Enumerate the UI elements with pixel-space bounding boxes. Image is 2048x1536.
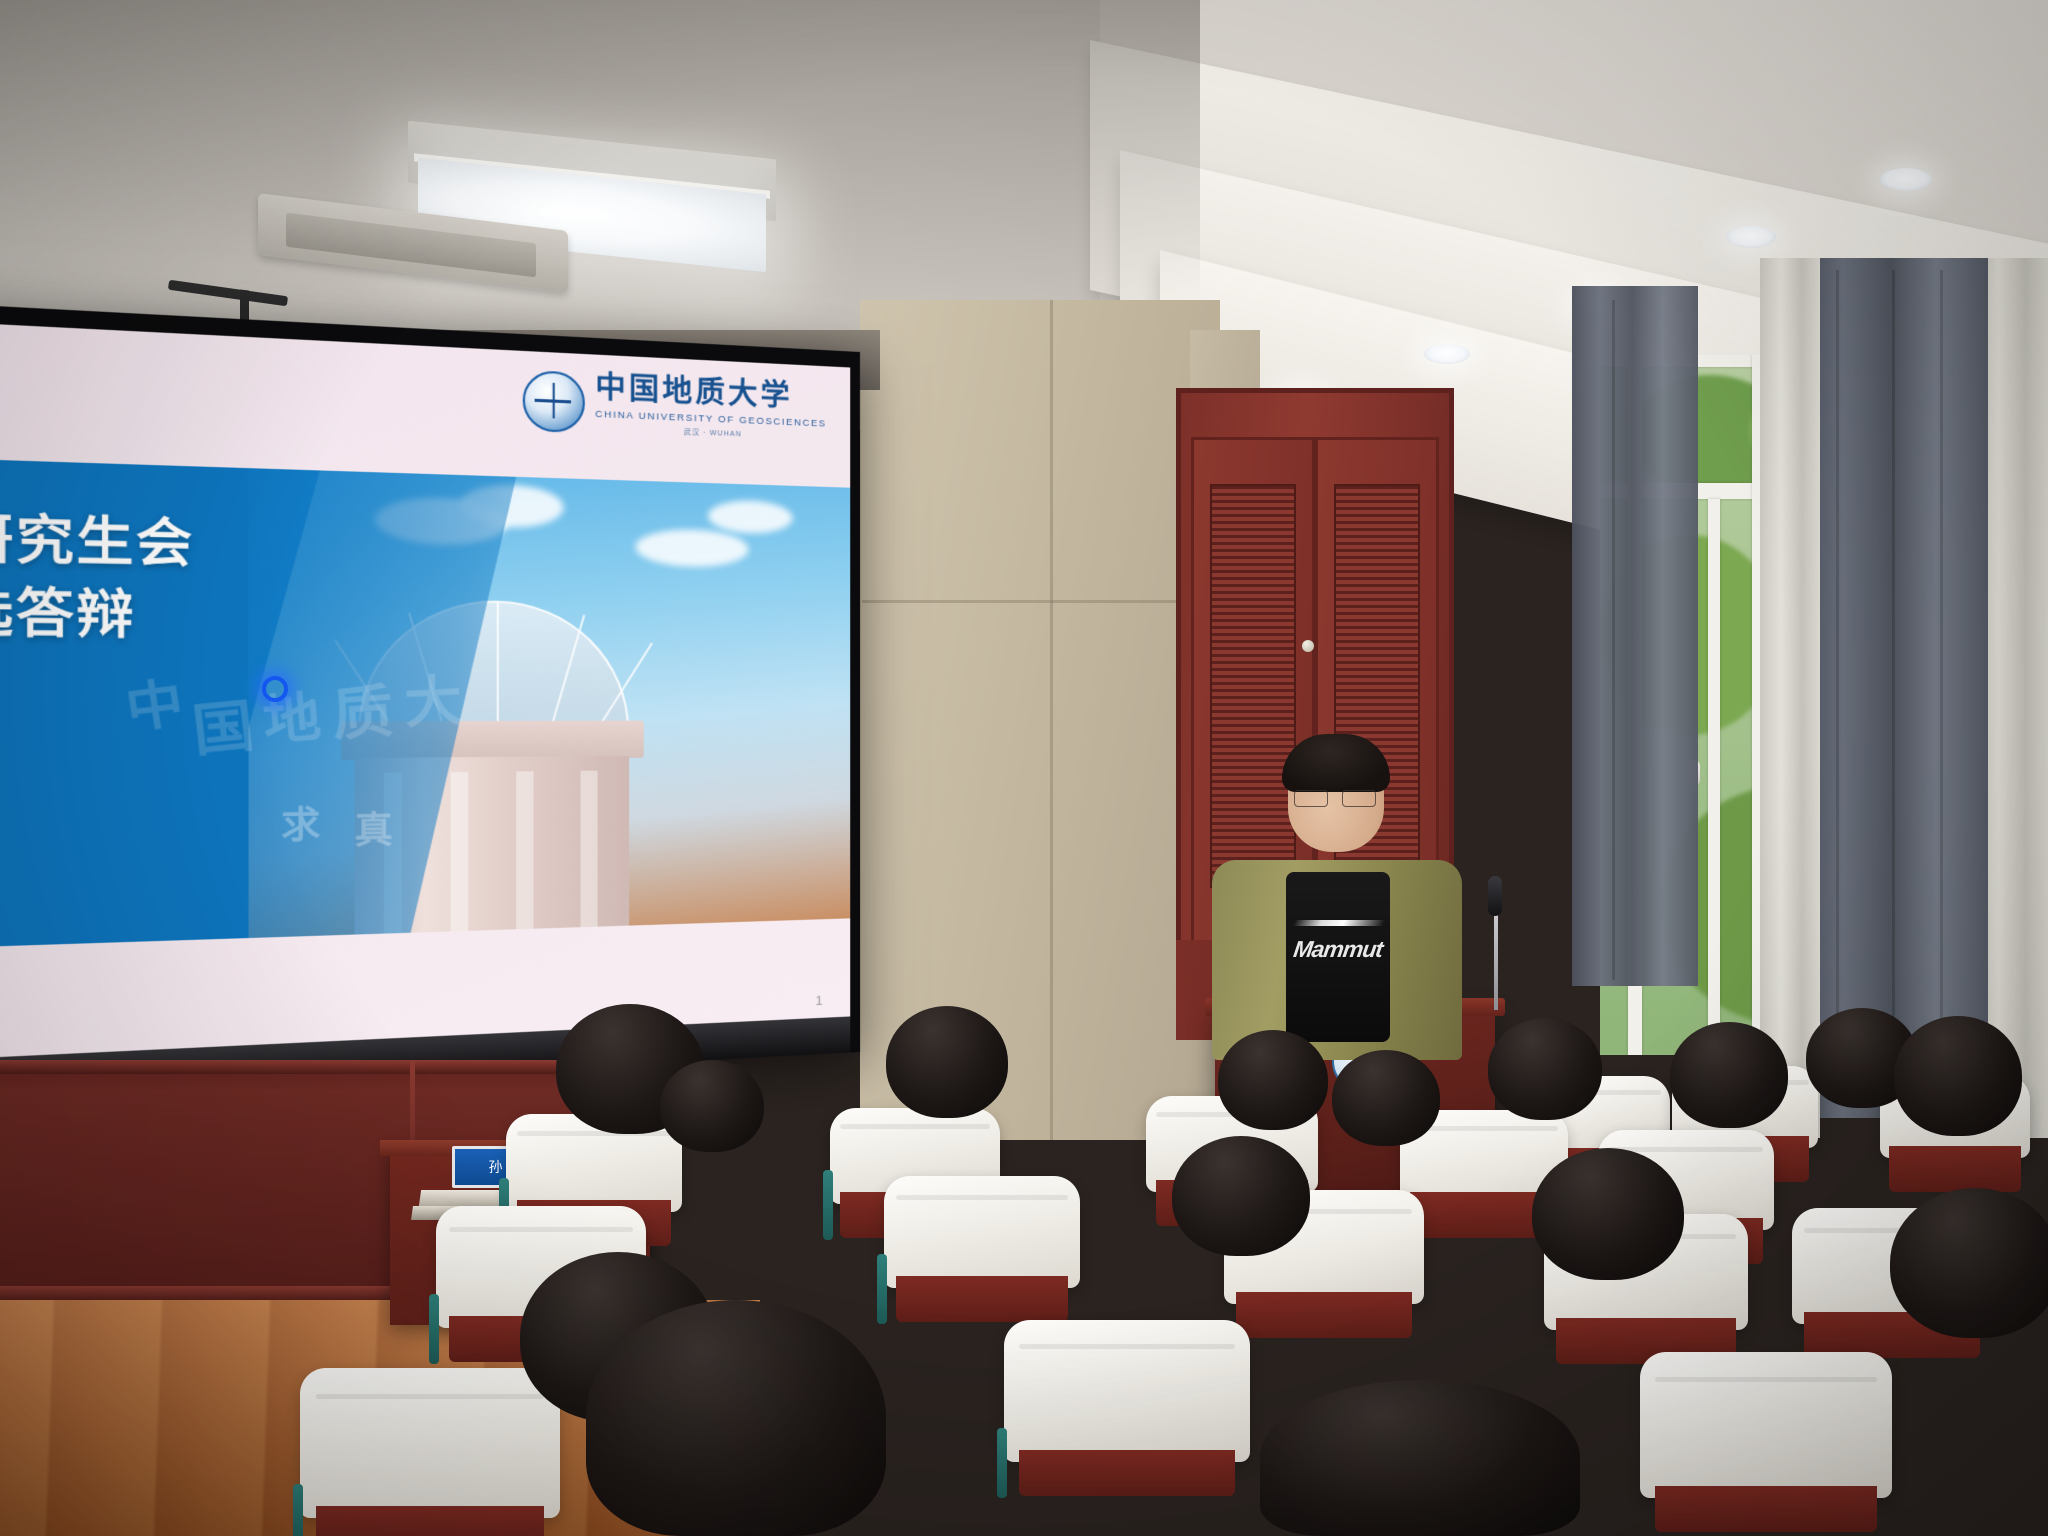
audience-head	[1890, 1188, 2048, 1338]
cloud-shape	[708, 499, 793, 534]
presentation-slide: 中国地质大学 CHINA UNIVERSITY OF GEOSCIENCES 武…	[0, 318, 850, 1062]
university-logo: 中国地质大学 CHINA UNIVERSITY OF GEOSCIENCES 武…	[522, 370, 826, 443]
wainscot-rail-top	[0, 1060, 620, 1074]
watermark-char: 求	[281, 795, 320, 849]
cug-compass-globe-icon	[522, 370, 584, 433]
audience-head-foreground	[1260, 1380, 1580, 1536]
curtain-fold	[1892, 270, 1895, 1090]
slide-title-line-1: 学院研究生会	[0, 498, 341, 582]
dome-rib	[549, 615, 585, 730]
audience-head	[886, 1006, 1008, 1118]
watermark-char: 质	[329, 664, 396, 753]
audience-head	[1670, 1022, 1788, 1128]
curtain-fold	[1612, 300, 1615, 980]
slide-hero-band: 中 国 地 质 大 求 真 学院研究生会 团竞选答辩 自动化学院	[0, 456, 850, 950]
column	[451, 772, 469, 931]
curtain-fold	[1836, 270, 1839, 1090]
slide-title: 学院研究生会 团竞选答辩	[0, 498, 341, 652]
watermark-char: 大	[402, 656, 464, 739]
downlight-icon-1	[1726, 226, 1776, 248]
chair[interactable]	[1004, 1320, 1250, 1462]
audience-head-foreground	[586, 1300, 886, 1536]
wall-seam-2	[862, 600, 1222, 603]
chair[interactable]	[884, 1176, 1080, 1288]
downlight-icon-4	[1424, 344, 1470, 364]
blackout-curtain-right[interactable]	[1802, 258, 1988, 1118]
slide-page-number: 1	[815, 993, 822, 1008]
chair[interactable]	[1640, 1352, 1892, 1498]
wall-seam-1	[1050, 300, 1053, 1140]
power-led-icon[interactable]	[262, 676, 288, 702]
downlight-icon-2	[1880, 168, 1932, 191]
chair[interactable]	[300, 1368, 560, 1518]
logo-name-cn: 中国地质大学	[595, 373, 826, 413]
curtain-fold	[1940, 270, 1943, 1090]
audience-head	[1488, 1018, 1602, 1120]
window-sash-edge	[1708, 499, 1720, 1055]
column	[516, 771, 533, 929]
tshirt-brand-text: Mammut	[1288, 932, 1389, 966]
watermark-char: 国	[188, 680, 258, 768]
blackout-curtain-mid[interactable]	[1572, 286, 1698, 986]
audience-head	[1532, 1148, 1684, 1280]
door-knob-icon[interactable]	[1302, 640, 1314, 652]
tshirt-swoosh-icon	[1293, 920, 1385, 926]
audience-head-glasses	[1894, 1016, 2022, 1136]
audience-head	[1332, 1050, 1440, 1146]
slide-title-line-2: 团竞选答辩	[0, 573, 341, 652]
audience-head	[1218, 1030, 1328, 1130]
speaker-glasses-icon	[1294, 790, 1378, 805]
watermark-char: 真	[354, 801, 392, 854]
watermark-char: 中	[119, 659, 188, 743]
cloud-shape	[635, 528, 748, 567]
sheer-curtain-mid[interactable]	[1760, 258, 1820, 1138]
projection-display[interactable]: 中国地质大学 CHINA UNIVERSITY OF GEOSCIENCES 武…	[0, 299, 860, 1104]
column	[581, 771, 598, 928]
microphone-head-2[interactable]	[1488, 876, 1502, 916]
speaker-person: Mammut	[1212, 820, 1462, 1050]
audience-head	[1172, 1136, 1310, 1256]
dome-rib	[496, 603, 498, 730]
photo-scene: 中国地质大学 CHINA UNIVERSITY OF GEOSCIENCES 武…	[0, 0, 2048, 1536]
audience-head	[660, 1060, 764, 1152]
